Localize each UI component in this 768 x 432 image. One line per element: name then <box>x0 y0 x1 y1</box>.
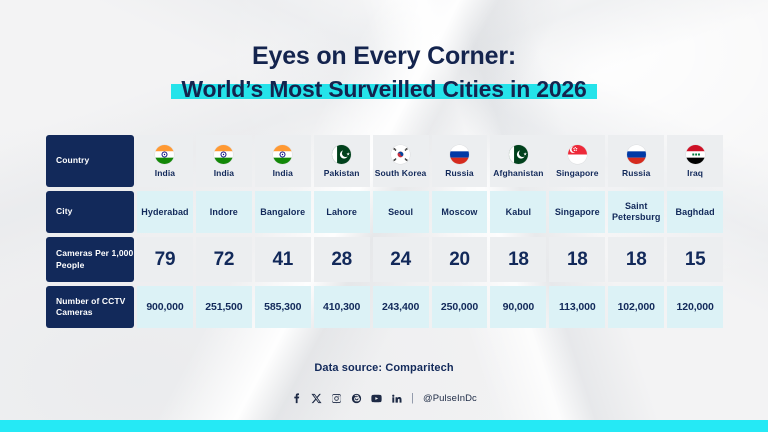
table-cell-cctv-total: 251,500 <box>196 286 252 328</box>
table-cell-cameras-per-1000: 18 <box>549 237 605 282</box>
table-cell-city: Baghdad <box>667 191 723 233</box>
city-label: Lahore <box>324 207 359 218</box>
page-title-line2: World’s Most Surveilled Cities in 2026 <box>181 76 586 102</box>
table-cell-cameras-per-1000: 79 <box>137 237 193 282</box>
table-cell-cctv-total: 102,000 <box>608 286 664 328</box>
table-cell-cctv-total: 120,000 <box>667 286 723 328</box>
table-row-cctv-total: Number of CCTV Cameras 900,000 251,500 5… <box>46 286 723 328</box>
data-source-label: Data source: Comparitech <box>0 362 768 374</box>
table-cell-country: Iraq <box>667 135 723 187</box>
table-cell-cameras-per-1000: 18 <box>490 237 546 282</box>
city-label: Bangalore <box>258 207 307 218</box>
table-cell-cameras-per-1000: 72 <box>196 237 252 282</box>
threads-icon[interactable] <box>351 393 362 404</box>
table-cell-country: Russia <box>432 135 488 187</box>
cameras-per-1000-value: 41 <box>272 249 293 271</box>
flag-russia-icon <box>627 145 646 164</box>
table-cell-country: India <box>137 135 193 187</box>
flag-singapore-icon <box>568 145 587 164</box>
social-separator: | <box>411 393 414 404</box>
cameras-per-1000-value: 28 <box>331 249 352 271</box>
country-label: India <box>273 168 293 178</box>
flag-india-icon <box>214 145 233 164</box>
cctv-total-value: 585,300 <box>264 301 301 313</box>
city-label: Baghdad <box>674 207 717 218</box>
table-cell-city: Hyderabad <box>137 191 193 233</box>
country-label: Singapore <box>556 168 598 178</box>
table-cell-cctv-total: 900,000 <box>137 286 193 328</box>
country-label: India <box>214 168 234 178</box>
table-cell-city: Indore <box>196 191 252 233</box>
cctv-total-value: 243,400 <box>382 301 419 313</box>
cameras-per-1000-value: 24 <box>390 249 411 271</box>
table-row-cameras-per-1000: Cameras Per 1,000 People 79 72 41 28 24 … <box>46 237 723 282</box>
flag-india-icon <box>155 145 174 164</box>
table-cell-cameras-per-1000: 24 <box>373 237 429 282</box>
table-cell-city: Kabul <box>490 191 546 233</box>
title-block: Eyes on Every Corner: World’s Most Surve… <box>0 42 768 103</box>
cameras-per-1000-value: 15 <box>685 249 706 271</box>
country-label: Pakistan <box>324 168 360 178</box>
city-label: Kabul <box>504 207 534 218</box>
social-links: | @PulseInDc <box>0 393 768 404</box>
x-icon[interactable] <box>311 393 322 404</box>
cameras-per-1000-value: 18 <box>508 249 529 271</box>
city-label: Saint Petersburg <box>608 201 664 223</box>
row-label-cctv-total: Number of CCTV Cameras <box>46 286 134 328</box>
cctv-total-value: 102,000 <box>618 301 655 313</box>
table-cell-city: Bangalore <box>255 191 311 233</box>
linkedin-icon[interactable] <box>391 393 402 404</box>
bottom-accent-bar <box>0 420 768 432</box>
table-cell-city: Seoul <box>373 191 429 233</box>
table-cell-cameras-per-1000: 28 <box>314 237 370 282</box>
table-cell-country: India <box>255 135 311 187</box>
cctv-total-value: 120,000 <box>676 301 713 313</box>
table-cell-cameras-per-1000: 15 <box>667 237 723 282</box>
surveillance-table: Country India India India <box>46 135 723 328</box>
cctv-total-value: 90,000 <box>503 301 535 313</box>
cameras-per-1000-value: 20 <box>449 249 470 271</box>
country-label: Iraq <box>687 168 703 178</box>
cctv-total-value: 900,000 <box>146 301 183 313</box>
table-cell-city: Singapore <box>549 191 605 233</box>
table-cell-city: Moscow <box>432 191 488 233</box>
flag-pakistan-icon <box>332 145 351 164</box>
table-cell-cctv-total: 585,300 <box>255 286 311 328</box>
youtube-icon[interactable] <box>371 393 382 404</box>
table-cell-country: India <box>196 135 252 187</box>
cameras-per-1000-value: 72 <box>214 249 235 271</box>
table-cell-cameras-per-1000: 41 <box>255 237 311 282</box>
flag-iraq-icon <box>686 145 705 164</box>
table-cell-country: Russia <box>608 135 664 187</box>
page-title-line1: Eyes on Every Corner: <box>0 42 768 71</box>
cameras-per-1000-value: 18 <box>567 249 588 271</box>
table-cell-cctv-total: 90,000 <box>490 286 546 328</box>
city-label: Singapore <box>553 207 602 218</box>
table-cell-country: Afghanistan <box>490 135 546 187</box>
table-cell-cameras-per-1000: 18 <box>608 237 664 282</box>
city-label: Hyderabad <box>139 207 190 218</box>
table-cell-country: Singapore <box>549 135 605 187</box>
flag-india-icon <box>273 145 292 164</box>
table-cell-city: Lahore <box>314 191 370 233</box>
page-title-line2-wrap: World’s Most Surveilled Cities in 2026 <box>171 76 596 103</box>
flag-russia-icon <box>450 145 469 164</box>
table-row-city: City Hyderabad Indore Bangalore Lahore S… <box>46 191 723 233</box>
country-label: South Korea <box>375 168 427 178</box>
table-cell-cameras-per-1000: 20 <box>432 237 488 282</box>
row-label-country: Country <box>46 135 134 187</box>
table-cell-cctv-total: 250,000 <box>432 286 488 328</box>
row-label-city: City <box>46 191 134 233</box>
cctv-total-value: 113,000 <box>559 301 596 313</box>
table-cell-cctv-total: 113,000 <box>549 286 605 328</box>
table-cell-cctv-total: 243,400 <box>373 286 429 328</box>
instagram-icon[interactable] <box>331 393 342 404</box>
table-cell-cctv-total: 410,300 <box>314 286 370 328</box>
cctv-total-value: 251,500 <box>205 301 242 313</box>
country-label: Russia <box>622 168 650 178</box>
city-label: Seoul <box>386 207 415 218</box>
city-label: Moscow <box>439 207 479 218</box>
cameras-per-1000-value: 18 <box>626 249 647 271</box>
table-cell-city: Saint Petersburg <box>608 191 664 233</box>
flag-south-korea-icon <box>391 145 410 164</box>
city-label: Indore <box>208 207 240 218</box>
social-handle[interactable]: @PulseInDc <box>423 393 477 404</box>
flag-afghanistan-icon <box>509 145 528 164</box>
table-row-country: Country India India India <box>46 135 723 187</box>
country-label: Afghanistan <box>493 168 543 178</box>
facebook-icon[interactable] <box>291 393 302 404</box>
table-cell-country: Pakistan <box>314 135 370 187</box>
cameras-per-1000-value: 79 <box>155 249 176 271</box>
country-label: Russia <box>445 168 473 178</box>
row-label-cameras-per-1000: Cameras Per 1,000 People <box>46 237 134 282</box>
cctv-total-value: 410,300 <box>323 301 360 313</box>
country-label: India <box>155 168 175 178</box>
table-cell-country: South Korea <box>373 135 429 187</box>
cctv-total-value: 250,000 <box>441 301 478 313</box>
